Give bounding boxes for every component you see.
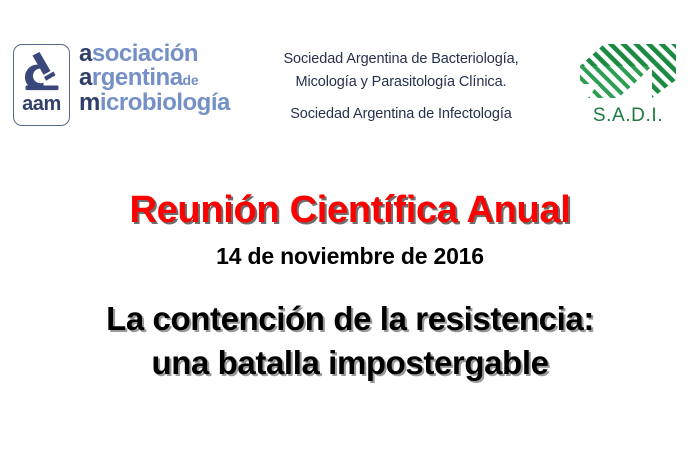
event-date: 14 de noviembre de 2016 bbox=[0, 243, 700, 270]
main-heading: La contención de la resistencia: una bat… bbox=[0, 297, 700, 385]
aam-abbreviation: aam bbox=[22, 94, 61, 114]
aam-wordmark-line-3: microbiología bbox=[79, 91, 230, 115]
society-line-3: Sociedad Argentina de Infectología bbox=[236, 103, 566, 126]
aam-wordmark-line-2-cap: a bbox=[79, 64, 92, 91]
header-logos-row: aam asociación argentinade microbiología… bbox=[0, 0, 700, 155]
aam-wordmark-line-1-rest: sociación bbox=[92, 40, 198, 67]
society-spacer bbox=[236, 94, 566, 103]
main-heading-line-1: La contención de la resistencia: bbox=[0, 297, 700, 341]
aam-wordmark-line-2-rest: rgentina bbox=[92, 64, 183, 91]
aam-logo: aam asociación argentinade microbiología bbox=[13, 44, 230, 126]
title-slide: aam asociación argentinade microbiología… bbox=[0, 0, 700, 467]
society-line-2: Micología y Parasitología Clínica. bbox=[236, 71, 566, 94]
sadi-abbreviation: S.A.D.I. bbox=[572, 105, 684, 127]
aam-wordmark-line-1-cap: a bbox=[79, 40, 92, 67]
aam-logo-mark: aam bbox=[13, 44, 70, 126]
society-line-1: Sociedad Argentina de Bacteriología, bbox=[236, 48, 566, 71]
microscope-icon bbox=[20, 51, 64, 93]
aam-wordmark: asociación argentinade microbiología bbox=[79, 42, 230, 115]
aam-wordmark-line-3-cap: m bbox=[79, 89, 100, 116]
event-title: Reunión Científica Anual bbox=[0, 189, 700, 232]
aam-wordmark-line-2-suffix: de bbox=[183, 72, 199, 88]
hatched-cube-icon bbox=[578, 40, 678, 102]
aam-wordmark-line-2: argentinade bbox=[79, 66, 230, 90]
society-names: Sociedad Argentina de Bacteriología, Mic… bbox=[236, 48, 566, 126]
sadi-logo: S.A.D.I. bbox=[572, 40, 684, 127]
main-heading-line-2: una batalla impostergable bbox=[0, 341, 700, 385]
aam-wordmark-line-1: asociación bbox=[79, 42, 230, 66]
aam-wordmark-line-3-rest: icrobiología bbox=[100, 89, 230, 116]
